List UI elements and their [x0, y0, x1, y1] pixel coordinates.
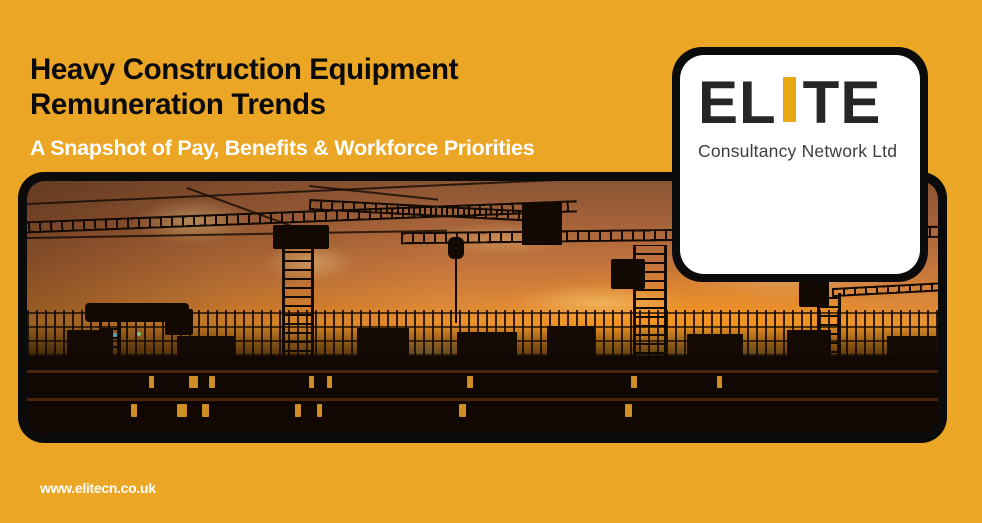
- lit-window: [625, 404, 632, 417]
- page-title-line-1: Heavy Construction Equipment: [30, 52, 660, 87]
- lit-window: [131, 404, 137, 417]
- brand-logo-card: ELTE Consultancy Network Ltd: [672, 47, 928, 282]
- brand-wordmark: ELTE: [698, 72, 902, 134]
- lit-window: [149, 376, 154, 388]
- crane-hook-block: [448, 237, 464, 259]
- brand-wordmark-part-2: TE: [803, 72, 882, 134]
- lit-window: [717, 376, 722, 388]
- lit-window: [209, 376, 215, 388]
- lit-window: [327, 376, 332, 388]
- crane-cab-center: [273, 225, 329, 249]
- page-subtitle: A Snapshot of Pay, Benefits & Workforce …: [30, 135, 660, 161]
- lit-window: [317, 404, 322, 417]
- page-title-line-2: Remuneration Trends: [30, 87, 660, 122]
- deck-line-1: [27, 370, 938, 373]
- lit-window: [309, 376, 314, 388]
- building-deck: [27, 356, 938, 434]
- lit-window: [459, 404, 466, 417]
- crane-cab-mid-right: [799, 281, 829, 307]
- lit-window: [202, 404, 209, 417]
- lit-window: [177, 404, 187, 417]
- deck-line-2: [27, 398, 938, 401]
- poster-canvas: Heavy Construction Equipment Remuneratio…: [0, 0, 982, 523]
- headline-block: Heavy Construction Equipment Remuneratio…: [30, 52, 660, 161]
- lit-window: [189, 376, 198, 388]
- lit-window: [631, 376, 637, 388]
- crane-cab-right: [611, 259, 645, 289]
- brand-tagline: Consultancy Network Ltd: [698, 141, 902, 161]
- brand-wordmark-part-1: EL: [698, 72, 777, 134]
- brand-logo-inner: ELTE Consultancy Network Ltd: [680, 55, 920, 274]
- lit-window: [295, 404, 301, 417]
- lit-window: [467, 376, 473, 388]
- footer-website-url[interactable]: www.elitecn.co.uk: [40, 480, 156, 496]
- brand-accent-i-bar: [783, 77, 796, 122]
